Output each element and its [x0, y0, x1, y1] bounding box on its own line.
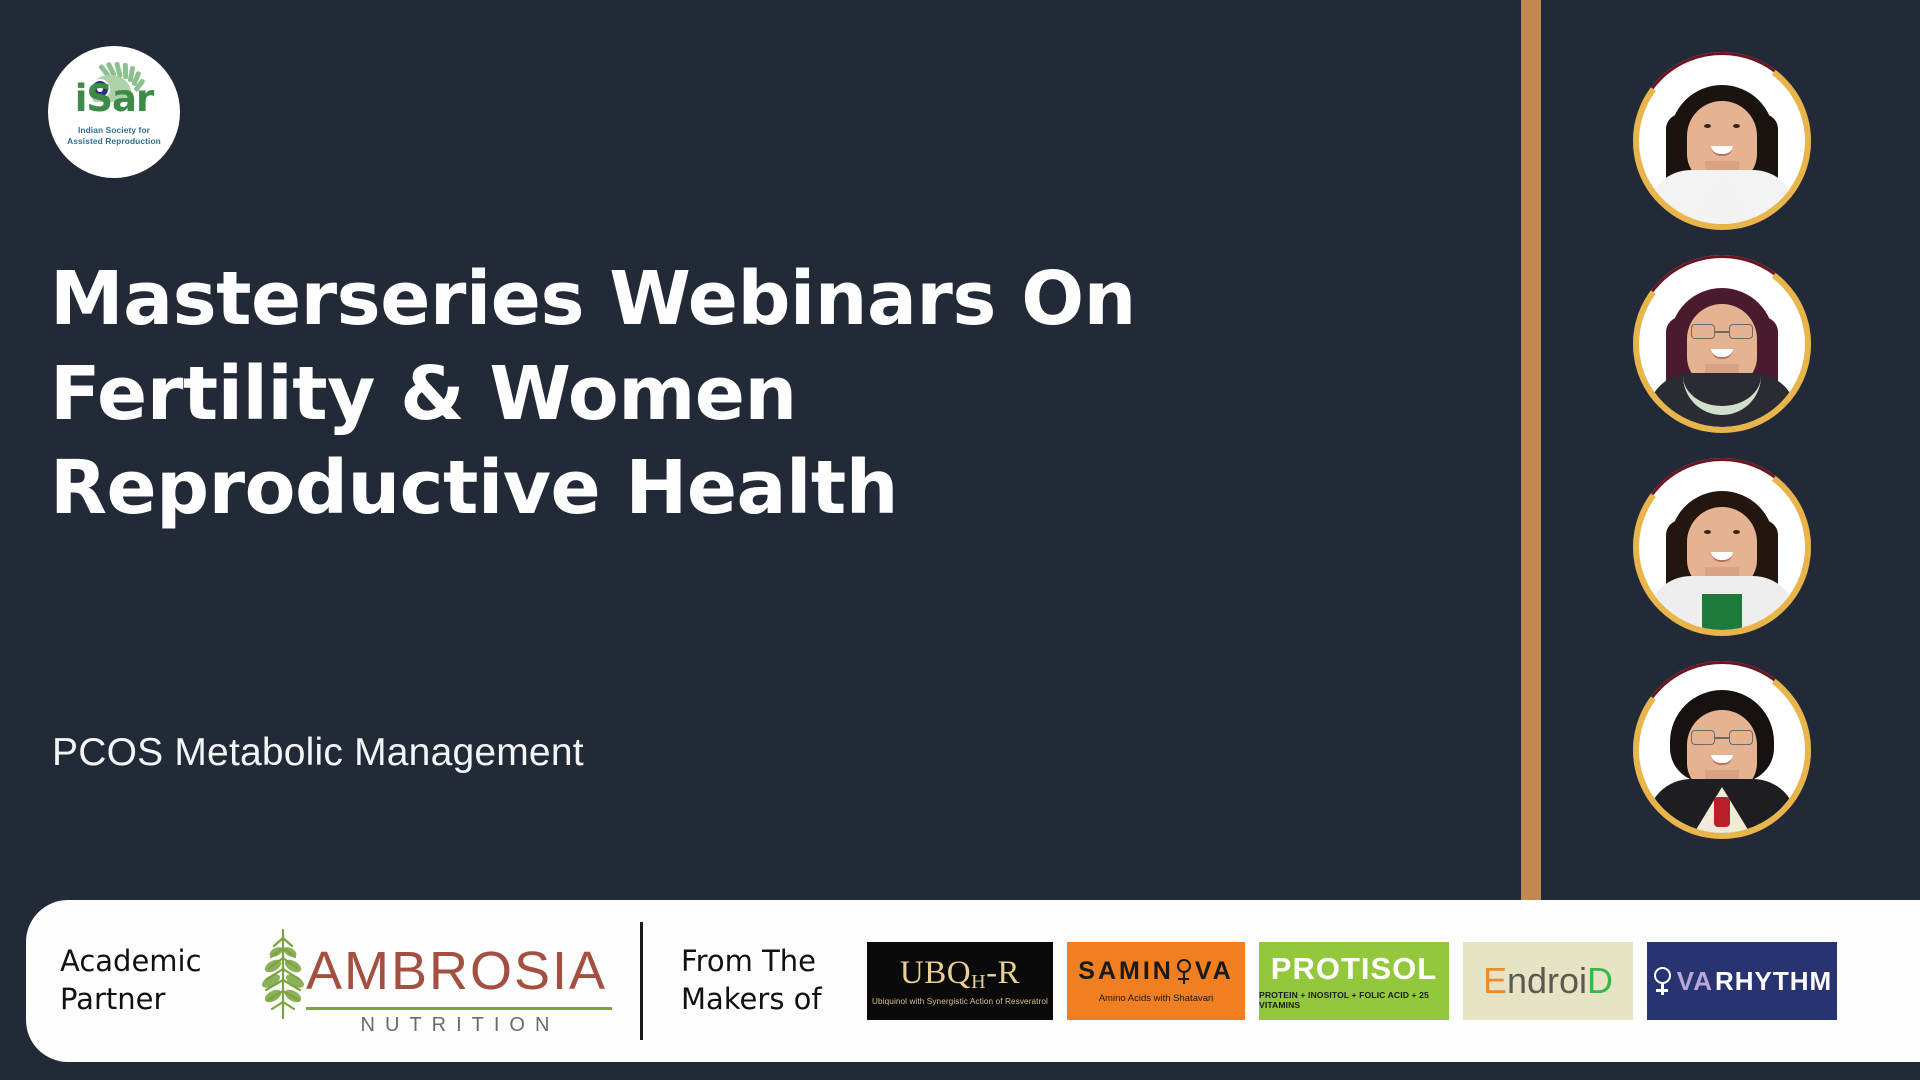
speaker-list: [1633, 52, 1833, 862]
leaf-icon: [252, 926, 314, 1022]
protisol-tagline: PROTEIN + INOSITOL + FOLIC ACID + 25 VIT…: [1259, 990, 1449, 1010]
endroid-wordmark-d: D: [1587, 960, 1613, 1002]
necktie: [1714, 797, 1730, 827]
session-topic: PCOS Metabolic Management: [52, 731, 584, 775]
ambrosia-nutrition-logo[interactable]: AMBROSIA NUTRITION: [250, 922, 618, 1040]
saminova-wordmark: SAMIN VA: [1078, 959, 1233, 985]
speaker-avatar-2[interactable]: [1633, 255, 1811, 433]
page-title-line-1: Masterseries Webinars On: [50, 252, 1350, 347]
isar-logo-wordmark: iSar: [62, 80, 166, 117]
isar-logo-mark: iSar: [62, 62, 166, 124]
ovarhythm-wordmark-rest: RHYTHM: [1715, 968, 1832, 994]
brand-logo-saminova[interactable]: SAMIN VA Amino Acids with Shatavari: [1067, 942, 1245, 1020]
saminova-tagline: Amino Acids with Shatavari: [1099, 993, 1214, 1004]
venus-symbol-icon: [1175, 959, 1194, 985]
ubqhr-wordmark: UBQH-R: [900, 957, 1020, 990]
endroid-wordmark-e: E: [1483, 960, 1507, 1002]
footer-divider: [640, 922, 643, 1040]
from-the-makers-of-label: From The Makers of: [681, 943, 859, 1018]
ambrosia-tagline: NUTRITION: [308, 1014, 612, 1037]
speaker-avatar-3[interactable]: [1633, 458, 1811, 636]
vertical-divider: [1521, 0, 1541, 902]
protisol-wordmark: PROTISOL: [1271, 953, 1437, 984]
brand-logo-endroid[interactable]: EndroiD: [1463, 942, 1633, 1020]
endroid-wordmark-mid: ndroi: [1507, 960, 1587, 1002]
speaker-avatar-4[interactable]: [1633, 661, 1811, 839]
brand-logo-row: UBQH-R Ubiquinol with Synergistic Action…: [867, 942, 1920, 1020]
speaker-avatar-1[interactable]: [1633, 52, 1811, 230]
isar-logo: iSar Indian Society for Assisted Reprodu…: [48, 46, 180, 178]
ovarhythm-wordmark-va: VA: [1677, 968, 1713, 994]
ubqhr-tagline: Ubiquinol with Synergistic Action of Res…: [872, 997, 1048, 1006]
page-title-line-3: Reproductive Health: [50, 441, 1350, 536]
partner-bar: Academic Partner: [26, 900, 1920, 1062]
brand-logo-ubqh-r[interactable]: UBQH-R Ubiquinol with Synergistic Action…: [867, 942, 1053, 1020]
isar-logo-subtitle: Indian Society for Assisted Reproduction: [54, 125, 174, 148]
academic-partner-label: Academic Partner: [60, 943, 242, 1018]
venus-symbol-icon: [1652, 966, 1674, 996]
ambrosia-wordmark: AMBROSIA: [306, 944, 607, 998]
page-title: Masterseries Webinars On Fertility & Wom…: [50, 252, 1350, 536]
brand-logo-protisol[interactable]: PROTISOL PROTEIN + INOSITOL + FOLIC ACID…: [1259, 942, 1449, 1020]
ambrosia-rule: [306, 1007, 612, 1010]
webinar-poster: iSar Indian Society for Assisted Reprodu…: [0, 0, 1920, 1080]
page-title-line-2: Fertility & Women: [50, 347, 1350, 442]
brand-logo-ovarhythm[interactable]: VARHYTHM: [1647, 942, 1837, 1020]
